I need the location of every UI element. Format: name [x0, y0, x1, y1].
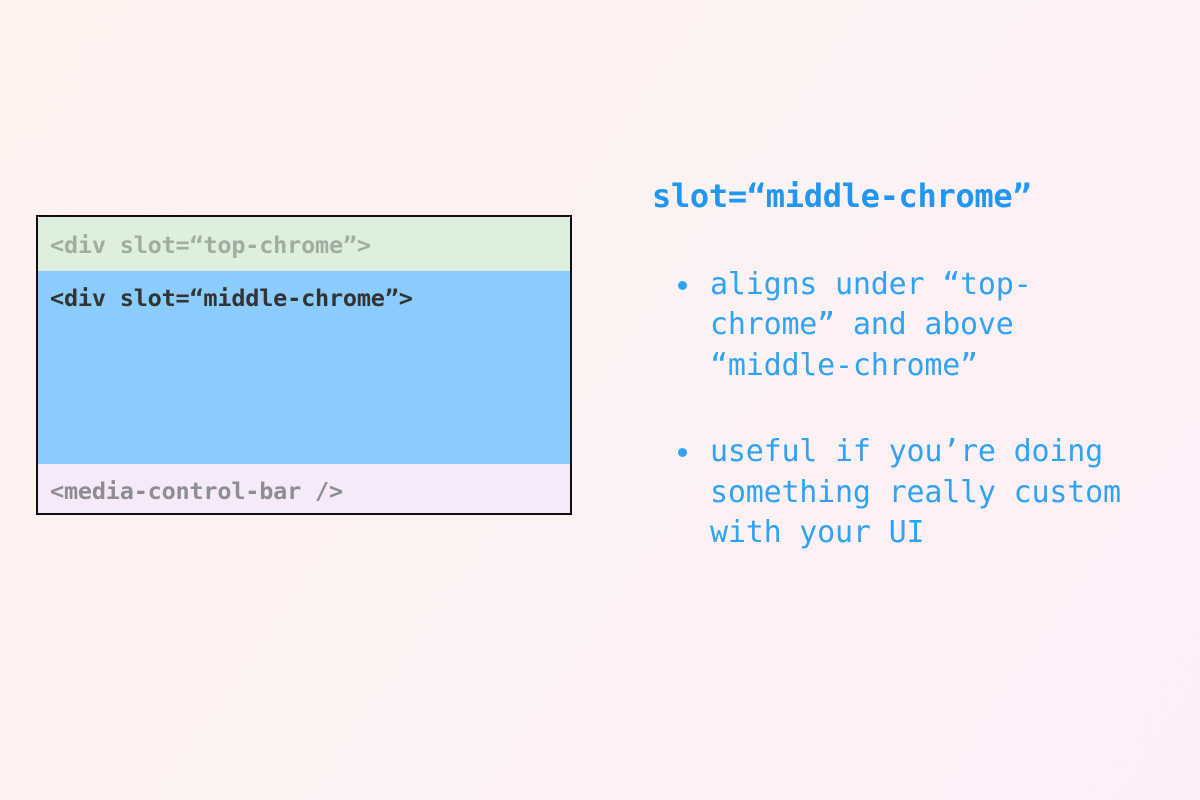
diagram-band-middle-chrome: <div slot=“middle-chrome”>	[38, 271, 570, 464]
list-item-label: aligns under “top-chrome” and above “mid…	[710, 267, 1032, 383]
diagram-band-media-control-bar: <media-control-bar />	[38, 464, 570, 513]
list-item: aligns under “top-chrome” and above “mid…	[652, 265, 1122, 387]
list-item-label: useful if you’re doing something really …	[710, 434, 1121, 550]
bullet-dot-icon	[678, 448, 687, 457]
bullet-dot-icon	[678, 281, 687, 290]
diagram-band-middle-chrome-label: <div slot=“middle-chrome”>	[50, 284, 413, 312]
diagram-band-media-control-bar-label: <media-control-bar />	[50, 477, 343, 505]
page-title: slot=“middle-chrome”	[652, 178, 1132, 215]
diagram-band-top-chrome: <div slot=“top-chrome”>	[38, 217, 570, 271]
slide-root: <div slot=“top-chrome”> <div slot=“middl…	[0, 0, 1200, 800]
explanation-column: slot=“middle-chrome” aligns under “top-c…	[652, 178, 1132, 554]
slot-layout-diagram: <div slot=“top-chrome”> <div slot=“middl…	[36, 215, 572, 515]
diagram-band-top-chrome-label: <div slot=“top-chrome”>	[50, 231, 371, 259]
list-item: useful if you’re doing something really …	[652, 432, 1122, 554]
bullet-list: aligns under “top-chrome” and above “mid…	[652, 265, 1132, 554]
